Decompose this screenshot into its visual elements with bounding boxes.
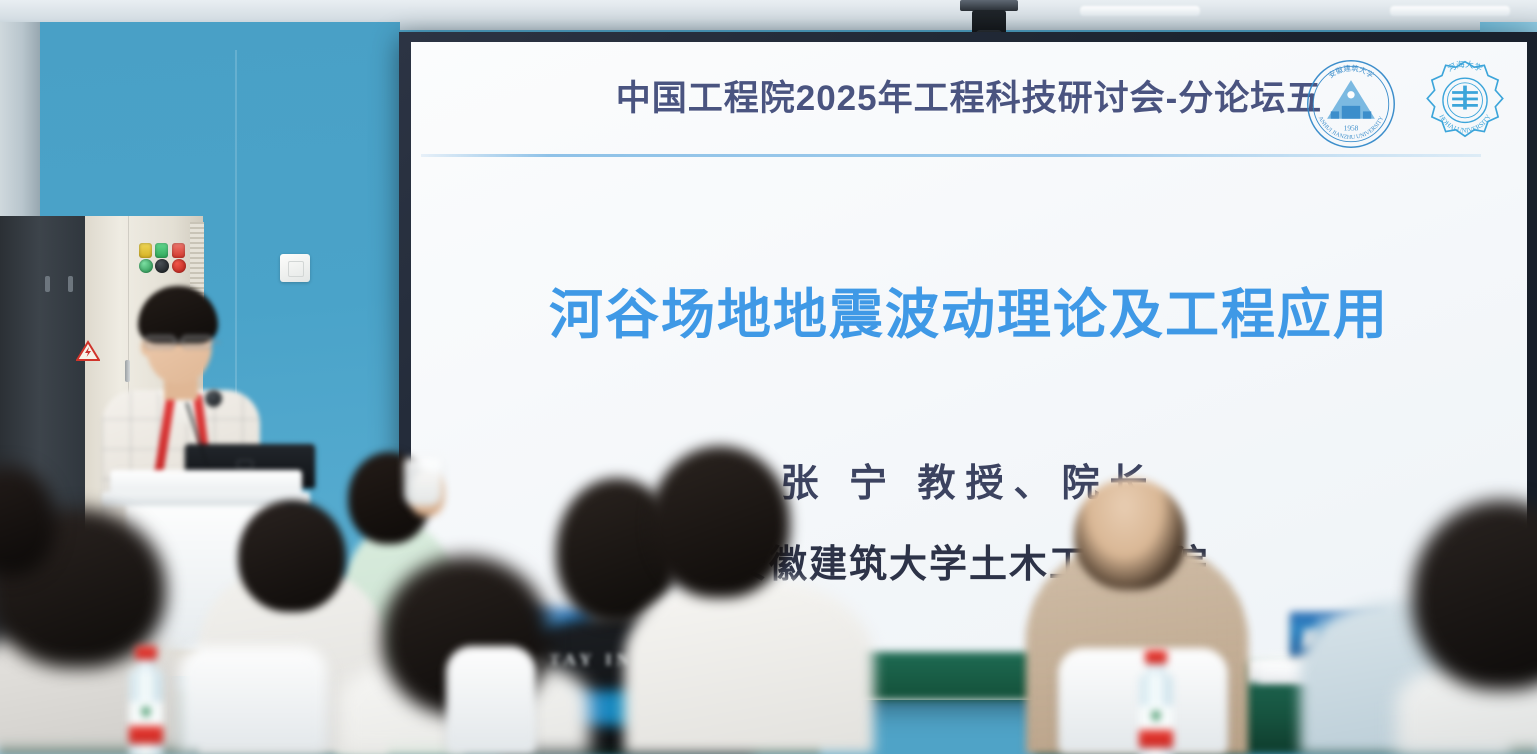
- audience-head-balding: [1074, 478, 1186, 590]
- ceiling-light: [1080, 6, 1200, 16]
- slide-header-divider: [421, 154, 1481, 157]
- audience-head: [238, 500, 346, 612]
- indicator-button-black[interactable]: [155, 259, 169, 273]
- chair: [446, 646, 536, 754]
- audience-body: [624, 578, 874, 754]
- microphone-head: [205, 390, 222, 407]
- cabinet-handle[interactable]: [68, 276, 73, 292]
- audience-head: [650, 446, 790, 598]
- indicator-button-green[interactable]: [139, 259, 153, 273]
- hohai-university-logo: 河海大学 HOHAI UNIVERSITY: [1419, 58, 1511, 150]
- conference-room-photo: 中国工程院2025年工程科技研讨会-分论坛五 1958 ANHUI JIANZ: [0, 0, 1537, 754]
- chair: [178, 646, 328, 754]
- slide-main-title: 河谷场地地震波动理论及工程应用: [549, 285, 1389, 345]
- water-cup[interactable]: [404, 458, 442, 506]
- ceiling-light: [1390, 6, 1510, 16]
- slide-logos: 1958 ANHUI JIANZHU UNIVERSITY 安徽建筑大学: [1305, 58, 1511, 150]
- water-bottle[interactable]: [1136, 650, 1176, 754]
- indicator-lamp-green[interactable]: [155, 243, 168, 258]
- slide-header-title: 中国工程院2025年工程科技研讨会-分论坛五: [616, 79, 1323, 118]
- cabinet-handle[interactable]: [45, 276, 50, 292]
- glasses-icon: [144, 334, 220, 350]
- indicator-lamp-yellow[interactable]: [139, 243, 152, 258]
- light-switch[interactable]: [280, 254, 310, 282]
- svg-text:1958: 1958: [1344, 124, 1359, 133]
- anhui-jianzhu-university-logo: 1958 ANHUI JIANZHU UNIVERSITY 安徽建筑大学: [1305, 58, 1397, 150]
- indicator-lamp-red[interactable]: [172, 243, 185, 258]
- water-bottle[interactable]: [126, 646, 166, 754]
- slide-main-title-wrap: 河谷场地地震波动理论及工程应用: [411, 270, 1527, 349]
- indicator-button-red[interactable]: [172, 259, 186, 273]
